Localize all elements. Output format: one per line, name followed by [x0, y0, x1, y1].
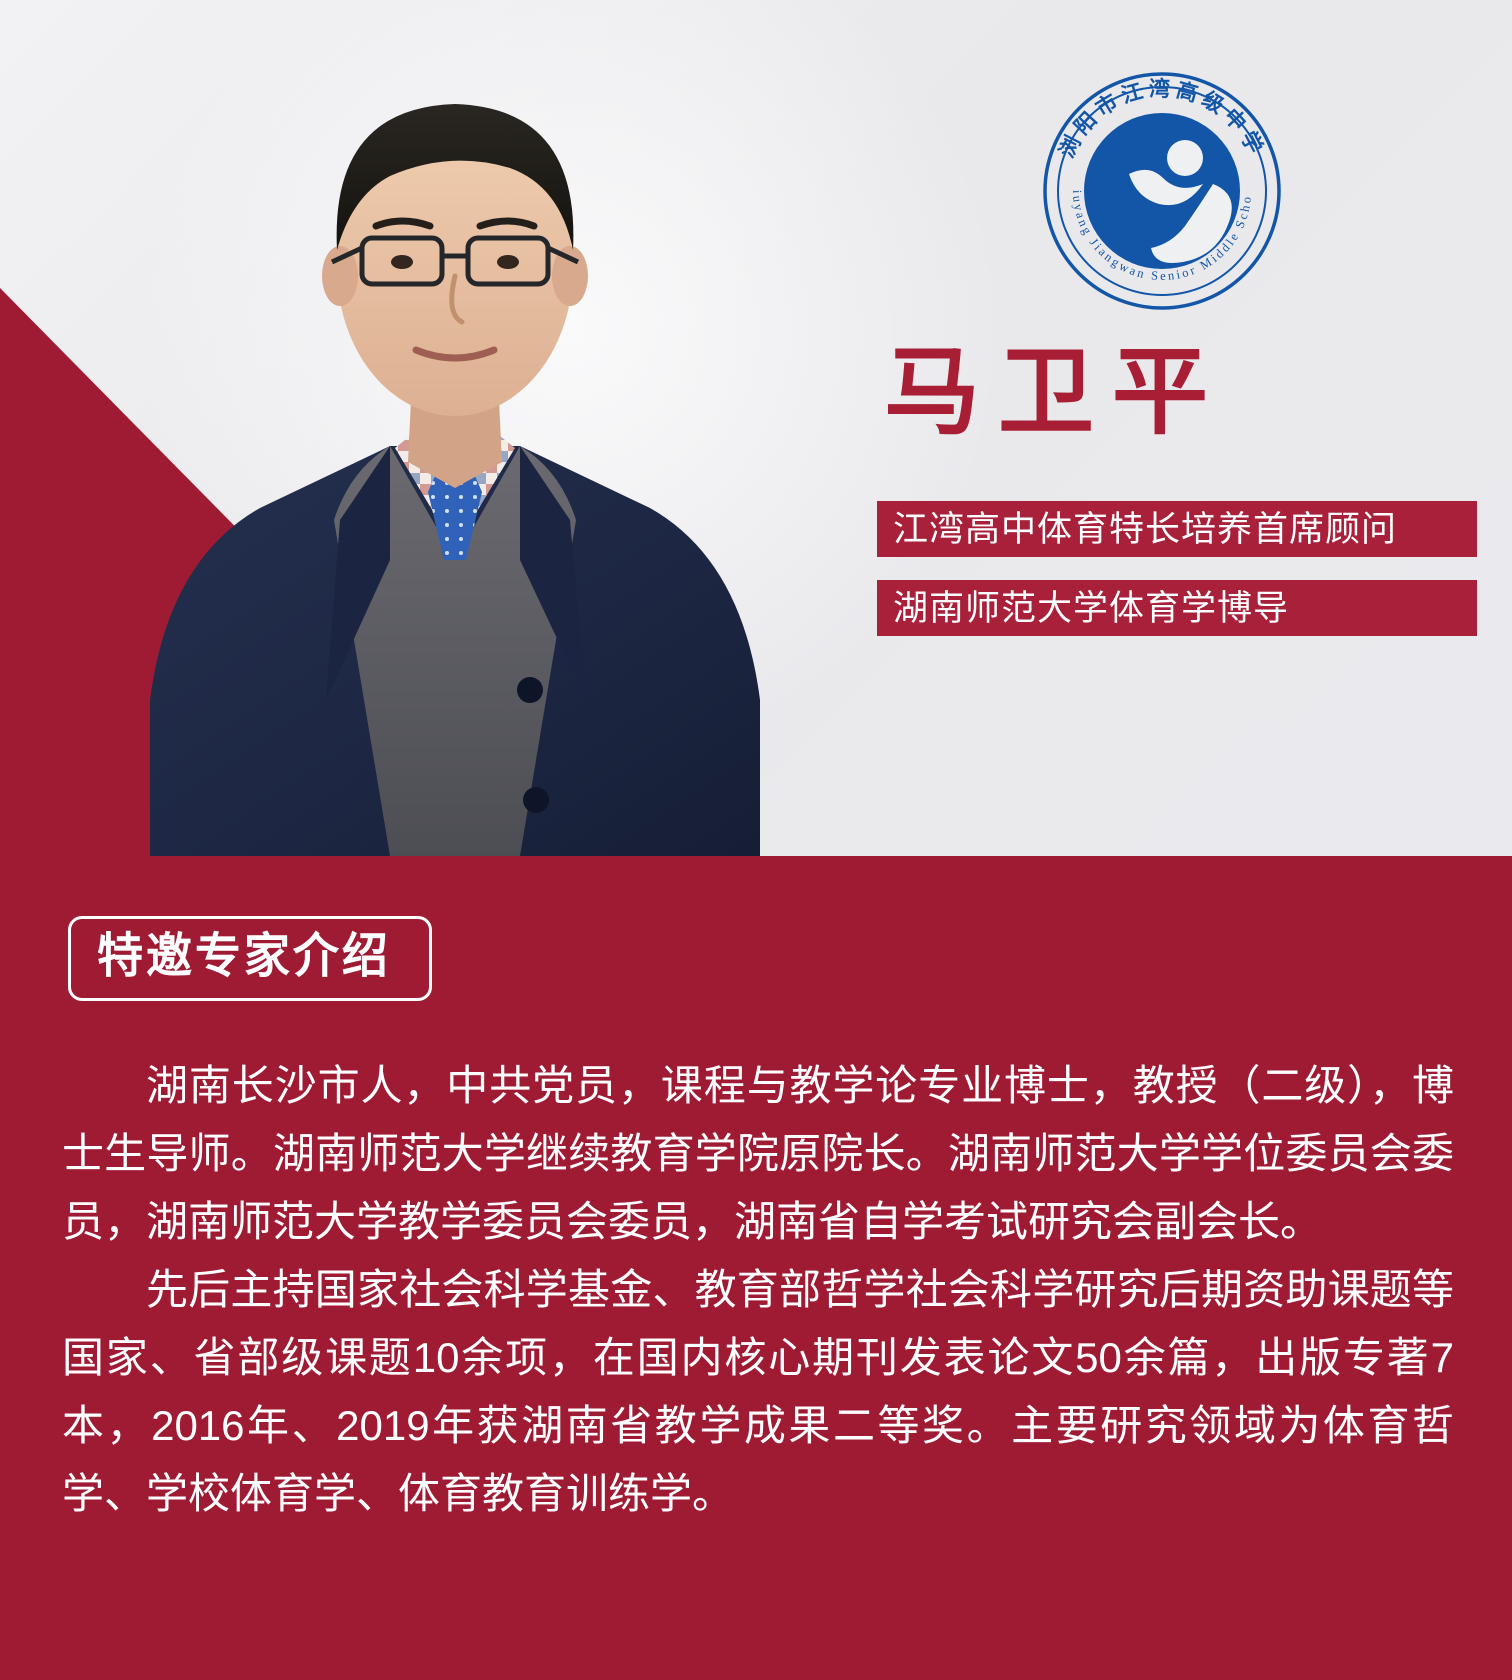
school-logo-icon: 浏阳市江湾高级中学 Liuyang Jiangwan Senior Middle… — [1043, 72, 1281, 310]
expert-name: 马卫平 — [884, 345, 1226, 441]
bio-panel: 特邀专家介绍 湖南长沙市人，中共党员，课程与教学论专业博士，教授（二级），博士生… — [0, 856, 1512, 1680]
expert-title-1: 江湾高中体育特长培养首席顾问 — [893, 512, 1397, 547]
expert-title-bar-1: 江湾高中体育特长培养首席顾问 — [877, 501, 1477, 557]
bio-paragraph-2: 先后主持国家社会科学基金、教育部哲学社会科学研究后期资助课题等国家、省部级课题1… — [62, 1256, 1454, 1528]
bio-paragraph-1: 湖南长沙市人，中共党员，课程与教学论专业博士，教授（二级），博士生导师。湖南师范… — [62, 1052, 1454, 1256]
section-heading-box: 特邀专家介绍 — [68, 916, 432, 1001]
expert-portrait-photo — [90, 0, 820, 856]
expert-title-bar-2: 湖南师范大学体育学博导 — [877, 580, 1477, 636]
section-heading-label: 特邀专家介绍 — [97, 929, 391, 984]
hero-section: 浏阳市江湾高级中学 Liuyang Jiangwan Senior Middle… — [0, 0, 1512, 856]
expert-profile-poster: 浏阳市江湾高级中学 Liuyang Jiangwan Senior Middle… — [0, 0, 1512, 1680]
bio-text: 湖南长沙市人，中共党员，课程与教学论专业博士，教授（二级），博士生导师。湖南师范… — [62, 1052, 1454, 1528]
expert-title-2: 湖南师范大学体育学博导 — [893, 591, 1289, 626]
